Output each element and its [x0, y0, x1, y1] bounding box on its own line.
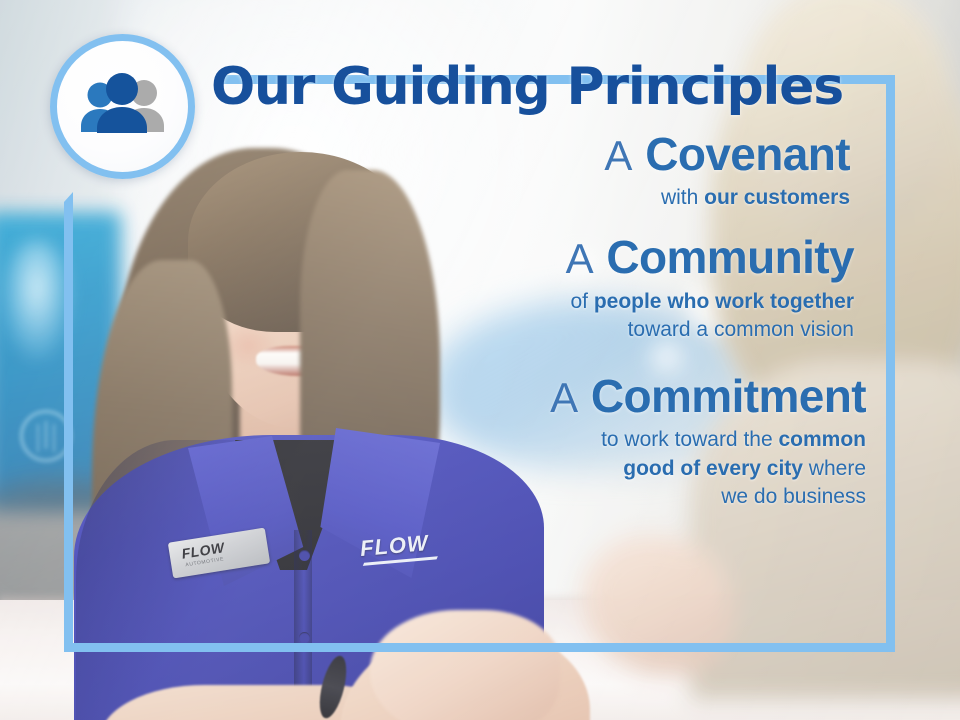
community-sub-part-2: people who work together [594, 290, 854, 313]
principle-community-subtitle: of people who work together toward a com… [180, 288, 854, 345]
commitment-sub-part-4: where [803, 457, 866, 480]
frame-border-bottom [64, 643, 895, 652]
polo-button [299, 632, 310, 643]
principle-community-headline: A Community [180, 232, 854, 284]
principle-commitment-keyword: Commitment [591, 370, 866, 422]
commitment-sub-line-2: good of every city where [180, 455, 866, 483]
spacer [180, 351, 880, 371]
commitment-sub-line-1: to work toward the common [180, 426, 866, 454]
polo-chest-logo: FLOW [359, 530, 430, 562]
principle-covenant-article: A [604, 132, 632, 179]
spacer [180, 218, 880, 232]
principle-covenant-keyword: Covenant [645, 128, 850, 180]
principle-community-keyword: Community [606, 231, 854, 283]
principle-commitment-subtitle: to work toward the common good of every … [180, 426, 866, 511]
people-group-badge [50, 34, 195, 179]
covenant-sub-part-1: with [661, 186, 704, 209]
commitment-sub-line-3: we do business [180, 483, 866, 511]
frame-border-right [886, 75, 895, 652]
associate-clasped-hands [370, 610, 560, 720]
principle-covenant-subtitle: with our customers [180, 184, 850, 212]
commitment-sub-part-2: common [778, 428, 866, 451]
principle-covenant: A Covenant with our customers [180, 129, 858, 213]
principle-covenant-headline: A Covenant [180, 129, 850, 181]
principle-commitment-headline: A Commitment [180, 371, 866, 423]
page-title: Our Guiding Principles [180, 60, 880, 115]
community-sub-line-1: of people who work together [180, 288, 854, 316]
covenant-sub-part-2: our customers [704, 186, 850, 209]
polo-button [299, 550, 310, 561]
principles-text-block: Our Guiding Principles A Covenant with o… [180, 60, 880, 517]
signage-highlight [2, 240, 72, 360]
principle-community: A Community of people who work together … [180, 232, 862, 344]
community-sub-part-1: of [570, 290, 593, 313]
principle-commitment-article: A [550, 374, 578, 421]
principle-community-article: A [566, 235, 594, 282]
principle-commitment: A Commitment to work toward the common g… [180, 371, 874, 512]
commitment-sub-part-3: good of every city [623, 457, 803, 480]
commitment-sub-part-1: to work toward the [601, 428, 778, 451]
community-sub-line-2: toward a common vision [180, 316, 854, 344]
people-group-icon [75, 72, 171, 142]
guiding-principles-graphic: FLOW AUTOMOTIVE FLOW [0, 0, 960, 720]
frame-border-left [64, 192, 73, 652]
